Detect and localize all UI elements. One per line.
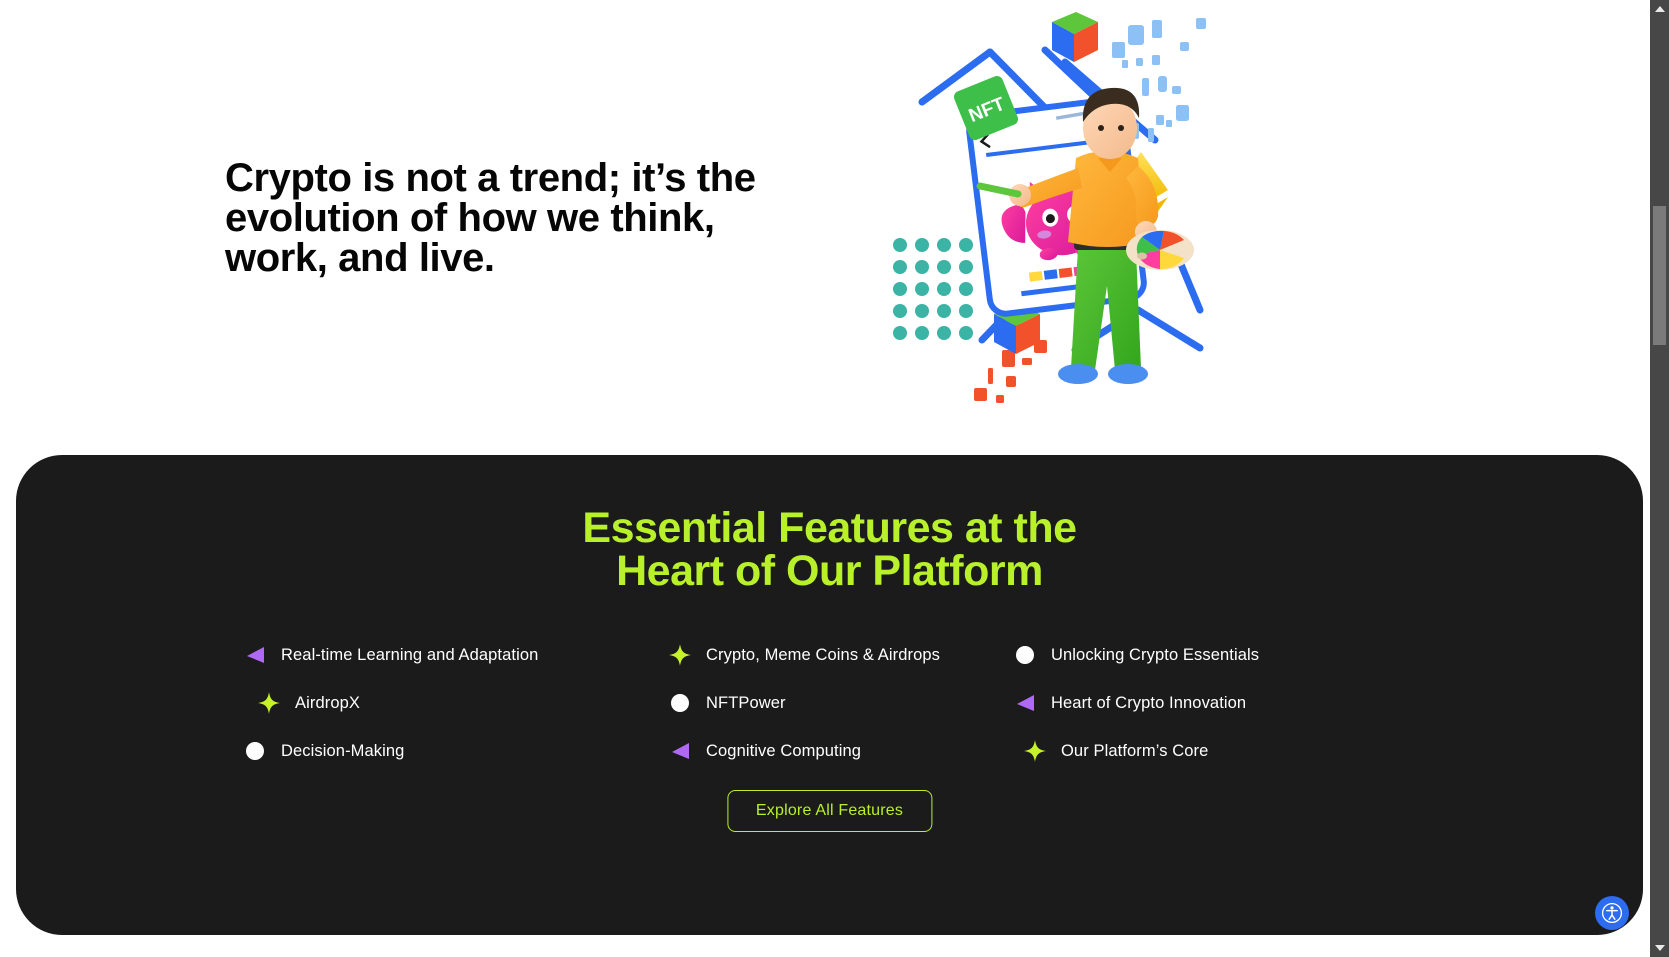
nft-artist-illustration: NFT xyxy=(870,10,1260,410)
scroll-down-arrow[interactable] xyxy=(1650,939,1669,957)
browser-viewport: Crypto is not a trend; it’s the evolutio… xyxy=(0,0,1669,957)
features-section: Essential Features at the Heart of Our P… xyxy=(16,455,1643,935)
feature-item-airdropx[interactable]: AirdropX xyxy=(242,679,667,727)
feature-item-real-time-learning-and-adaptation[interactable]: Real-time Learning and Adaptation xyxy=(242,631,667,679)
feature-label: AirdropX xyxy=(295,694,360,713)
triangle-left-icon xyxy=(667,738,693,764)
cube-top-icon xyxy=(1052,12,1098,62)
page-content: Crypto is not a trend; it’s the evolutio… xyxy=(0,0,1650,957)
feature-label: Heart of Crypto Innovation xyxy=(1051,694,1246,713)
explore-all-features-button[interactable]: Explore All Features xyxy=(727,790,932,832)
hero-section: Crypto is not a trend; it’s the evolutio… xyxy=(0,0,1650,455)
triangle-left-icon xyxy=(242,642,268,668)
feature-item-nftpower[interactable]: NFTPower xyxy=(667,679,1012,727)
feature-label: Our Platform’s Core xyxy=(1061,742,1208,761)
page-scrollbar[interactable] xyxy=(1650,0,1669,957)
feature-item-decision-making[interactable]: Decision-Making xyxy=(242,727,667,775)
feature-label: Decision-Making xyxy=(281,742,404,761)
feature-item-unlocking-crypto-essentials[interactable]: Unlocking Crypto Essentials xyxy=(1012,631,1342,679)
scroll-up-arrow[interactable] xyxy=(1650,0,1669,18)
circle-icon xyxy=(242,738,268,764)
scroll-thumb[interactable] xyxy=(1653,206,1666,345)
feature-item-crypto-meme-coins-airdrops[interactable]: Crypto, Meme Coins & Airdrops xyxy=(667,631,1012,679)
triangle-left-icon xyxy=(1012,690,1038,716)
sparkle-icon xyxy=(667,642,693,668)
accessibility-button[interactable] xyxy=(1595,896,1629,930)
accessibility-icon xyxy=(1601,902,1623,924)
feature-label: NFTPower xyxy=(706,694,786,713)
features-title: Essential Features at the Heart of Our P… xyxy=(16,507,1643,593)
feature-item-heart-of-crypto-innovation[interactable]: Heart of Crypto Innovation xyxy=(1012,679,1342,727)
circle-icon xyxy=(1012,642,1038,668)
teal-dot-grid xyxy=(893,238,973,340)
hero-heading: Crypto is not a trend; it’s the evolutio… xyxy=(225,158,825,278)
features-grid: Real-time Learning and Adaptation Crypto… xyxy=(242,631,1422,775)
feature-label: Cognitive Computing xyxy=(706,742,861,761)
feature-item-cognitive-computing[interactable]: Cognitive Computing xyxy=(667,727,1012,775)
sparkle-icon xyxy=(256,690,282,716)
circle-icon xyxy=(667,690,693,716)
feature-item-our-platforms-core[interactable]: Our Platform’s Core xyxy=(1012,727,1342,775)
feature-label: Unlocking Crypto Essentials xyxy=(1051,646,1259,665)
sparkle-icon xyxy=(1022,738,1048,764)
feature-label: Real-time Learning and Adaptation xyxy=(281,646,538,665)
feature-label: Crypto, Meme Coins & Airdrops xyxy=(706,646,940,665)
